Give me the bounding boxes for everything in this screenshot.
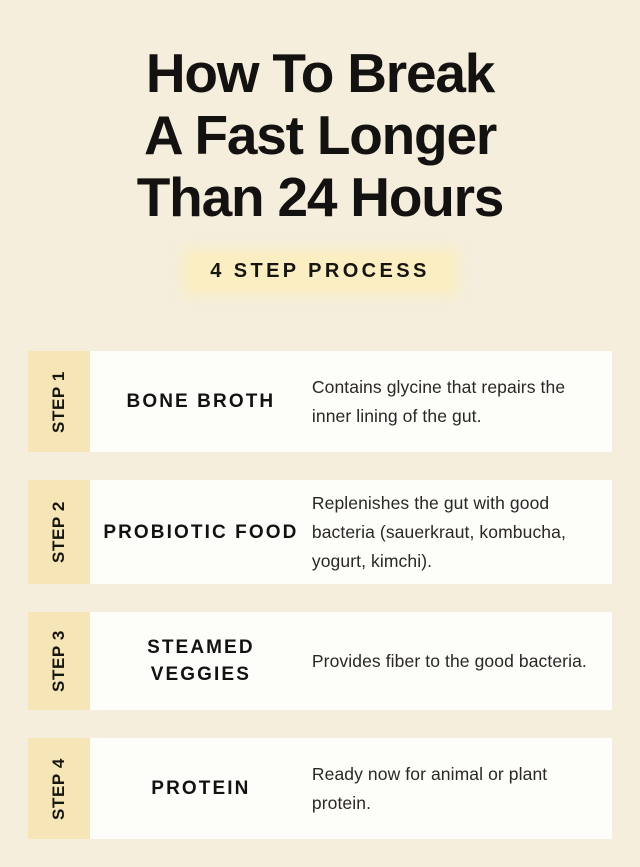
step-description: Replenishes the gut with good bacteria (…	[312, 489, 612, 576]
infographic-poster: How To Break A Fast Longer Than 24 Hours…	[0, 0, 640, 854]
step-number-tab: STEP 1	[28, 351, 90, 452]
step-card: PROTEIN Ready now for animal or plant pr…	[90, 738, 612, 839]
step-number-label: STEP 1	[49, 371, 69, 433]
list-item: STEP 4 PROTEIN Ready now for animal or p…	[0, 738, 640, 839]
list-item: STEP 1 BONE BROTH Contains glycine that …	[0, 351, 640, 452]
step-description: Contains glycine that repairs the inner …	[312, 373, 612, 431]
page-title: How To Break A Fast Longer Than 24 Hours	[0, 42, 640, 228]
subtitle-badge: 4 STEP PROCESS	[188, 254, 452, 290]
step-number-tab: STEP 4	[28, 738, 90, 839]
step-card: STEAMED VEGGIES Provides fiber to the go…	[90, 612, 612, 710]
step-title: BONE BROTH	[90, 388, 312, 415]
step-description: Ready now for animal or plant protein.	[312, 760, 612, 818]
steps-list: STEP 1 BONE BROTH Contains glycine that …	[0, 351, 640, 867]
title-line-2: A Fast Longer	[28, 104, 612, 166]
step-number-label: STEP 2	[49, 501, 69, 563]
step-card: PROBIOTIC FOOD Replenishes the gut with …	[90, 480, 612, 584]
step-number-tab: STEP 2	[28, 480, 90, 584]
step-number-label: STEP 4	[49, 758, 69, 820]
step-title: PROBIOTIC FOOD	[90, 519, 312, 546]
step-description: Provides fiber to the good bacteria.	[312, 647, 612, 676]
subtitle-container: 4 STEP PROCESS	[0, 254, 640, 290]
title-line-1: How To Break	[28, 42, 612, 104]
list-item: STEP 2 PROBIOTIC FOOD Replenishes the gu…	[0, 480, 640, 584]
step-number-label: STEP 3	[49, 630, 69, 692]
title-line-3: Than 24 Hours	[28, 166, 612, 228]
step-title: STEAMED VEGGIES	[90, 634, 312, 688]
step-card: BONE BROTH Contains glycine that repairs…	[90, 351, 612, 452]
poster-header: How To Break A Fast Longer Than 24 Hours…	[0, 0, 640, 290]
step-number-tab: STEP 3	[28, 612, 90, 710]
list-item: STEP 3 STEAMED VEGGIES Provides fiber to…	[0, 612, 640, 710]
step-title: PROTEIN	[90, 775, 312, 802]
